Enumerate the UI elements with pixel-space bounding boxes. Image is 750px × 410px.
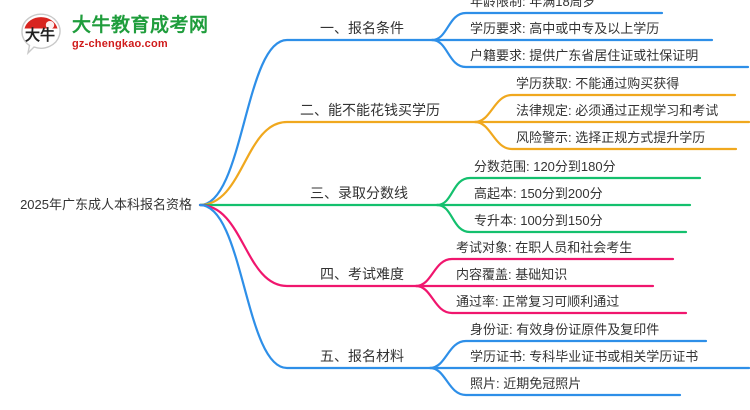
leaf-label: 内容覆盖: 基础知识 [456, 268, 567, 281]
leaf-label: 通过率: 正常复习可顺利通过 [456, 295, 619, 308]
branch-label-2: 二、能不能花钱买学历 [300, 103, 440, 117]
leaf-label: 学历获取: 不能通过购买获得 [516, 77, 679, 90]
leaf-label: 学历证书: 专科毕业证书或相关学历证书 [470, 350, 698, 363]
branch-label-5: 五、报名材料 [320, 349, 404, 363]
leaf-label: 高起本: 150分到200分 [474, 187, 603, 200]
leaf-label: 户籍要求: 提供广东省居住证或社保证明 [470, 49, 698, 62]
leaf-label: 风险警示: 选择正规方式提升学历 [516, 131, 705, 144]
root-label: 2025年广东成人本科报名资格 [20, 198, 192, 211]
mindmap-connectors [200, 13, 749, 395]
leaf-label: 年龄限制: 年满18周岁 [470, 0, 596, 8]
branch-label-1: 一、报名条件 [320, 21, 404, 35]
leaf-label: 照片: 近期免冠照片 [470, 377, 581, 390]
branch-label-3: 三、录取分数线 [310, 186, 408, 200]
leaf-label: 专升本: 100分到150分 [474, 214, 603, 227]
leaf-label: 分数范围: 120分到180分 [474, 160, 616, 173]
leaf-label: 身份证: 有效身份证原件及复印件 [470, 323, 659, 336]
branch-label-4: 四、考试难度 [320, 267, 404, 281]
leaf-label: 考试对象: 在职人员和社会考生 [456, 241, 632, 254]
leaf-label: 学历要求: 高中或中专及以上学历 [470, 22, 659, 35]
leaf-label: 法律规定: 必须通过正规学习和考试 [516, 104, 718, 117]
